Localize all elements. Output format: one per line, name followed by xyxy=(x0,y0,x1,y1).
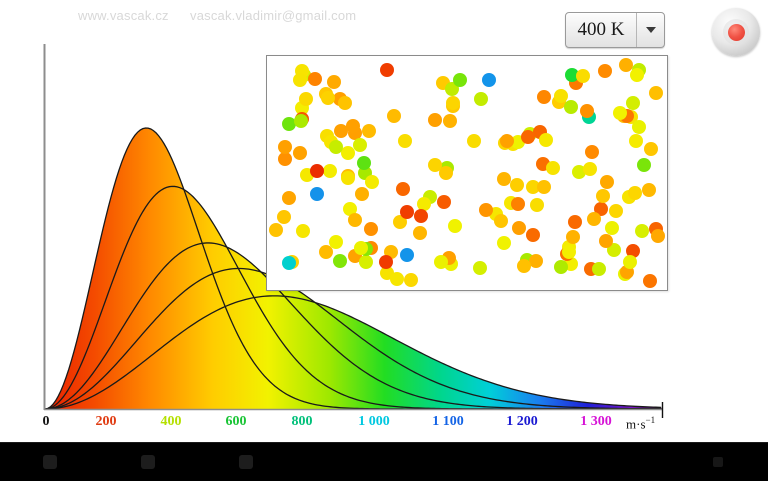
simulation-app: 02004006008001 0001 1001 2001 300 m·s−1 … xyxy=(0,0,768,442)
gas-particle xyxy=(362,124,376,138)
x-tick-1300: 1 300 xyxy=(580,414,612,430)
gas-particle xyxy=(623,255,637,269)
gas-particle xyxy=(649,86,663,100)
gas-particle xyxy=(428,113,442,127)
x-axis-unit-label: m·s−1 xyxy=(626,415,655,432)
gas-particle xyxy=(539,133,553,147)
x-tick-800: 800 xyxy=(292,414,313,430)
gas-particle xyxy=(398,134,412,148)
gas-particle xyxy=(439,166,453,180)
gas-particle xyxy=(626,96,640,110)
gas-particle xyxy=(537,90,551,104)
gas-particle xyxy=(353,138,367,152)
gas-particle xyxy=(414,209,428,223)
temperature-select[interactable]: 400 K xyxy=(565,12,665,48)
gas-particle xyxy=(637,158,651,172)
gas-particle xyxy=(323,164,337,178)
gas-particle xyxy=(497,172,511,186)
gas-particle xyxy=(446,96,460,110)
gas-particle-box[interactable] xyxy=(266,55,668,291)
x-tick-200: 200 xyxy=(96,414,117,430)
x-tick-1100: 1 100 xyxy=(432,414,464,430)
gas-particle xyxy=(364,222,378,236)
gas-particle xyxy=(566,230,580,244)
gas-particle xyxy=(643,274,657,288)
temperature-select-value: 400 K xyxy=(566,19,636,41)
gas-particle xyxy=(293,73,307,87)
gas-particle xyxy=(600,175,614,189)
gas-particle xyxy=(598,64,612,78)
gas-particle xyxy=(467,134,481,148)
gas-particle xyxy=(428,158,442,172)
gas-particle xyxy=(387,109,401,123)
gas-particle xyxy=(651,229,665,243)
gas-particle xyxy=(359,255,373,269)
gas-particle xyxy=(587,212,601,226)
gas-particle xyxy=(629,134,643,148)
gas-particle xyxy=(380,63,394,77)
x-tick-400: 400 xyxy=(161,414,182,430)
gas-particle xyxy=(497,236,511,250)
gas-particle xyxy=(546,161,560,175)
back-button[interactable] xyxy=(43,455,57,469)
home-button[interactable] xyxy=(141,455,155,469)
gas-particle xyxy=(365,175,379,189)
chevron-down-glyph xyxy=(646,27,656,33)
gas-particle xyxy=(596,189,610,203)
gas-particle xyxy=(338,96,352,110)
gas-particle xyxy=(453,73,467,87)
gas-particle xyxy=(443,114,457,128)
watermark-website: www.vascak.cz xyxy=(78,8,169,23)
gas-particle xyxy=(310,187,324,201)
gas-particle xyxy=(341,171,355,185)
gas-particle xyxy=(400,205,414,219)
chevron-down-icon[interactable] xyxy=(636,13,664,47)
gas-particle xyxy=(390,272,404,286)
gas-particle xyxy=(473,261,487,275)
gas-particle xyxy=(609,204,623,218)
gas-particle xyxy=(568,215,582,229)
gas-particle xyxy=(628,186,642,200)
gas-particle xyxy=(517,259,531,273)
gas-particle xyxy=(293,146,307,160)
menu-button[interactable] xyxy=(713,457,723,467)
gas-particle xyxy=(355,187,369,201)
x-tick-0: 0 xyxy=(43,414,50,430)
gas-particle xyxy=(413,226,427,240)
android-nav-bar xyxy=(0,442,768,481)
gas-particle xyxy=(437,195,451,209)
gas-particle xyxy=(396,182,410,196)
gas-particle xyxy=(296,224,310,238)
gas-particle xyxy=(605,221,619,235)
gas-particle xyxy=(357,156,371,170)
gas-particle xyxy=(310,164,324,178)
x-tick-1000: 1 000 xyxy=(358,414,390,430)
gas-particle xyxy=(474,92,488,106)
gas-particle xyxy=(494,214,508,228)
gas-particle xyxy=(348,213,362,227)
gas-particle xyxy=(448,219,462,233)
gas-particle xyxy=(576,69,590,83)
recents-button[interactable] xyxy=(239,455,253,469)
gas-particle xyxy=(308,72,322,86)
watermark-email: vascak.vladimir@gmail.com xyxy=(190,8,356,23)
gas-particle xyxy=(400,248,414,262)
gas-particle xyxy=(278,140,292,154)
gas-particle xyxy=(277,210,291,224)
gas-particle xyxy=(635,224,649,238)
gas-particle xyxy=(630,68,644,82)
gas-particle xyxy=(510,178,524,192)
gas-particle xyxy=(511,197,525,211)
x-tick-1200: 1 200 xyxy=(506,414,538,430)
gas-particle xyxy=(294,114,308,128)
record-icon[interactable] xyxy=(712,8,760,56)
gas-particle xyxy=(632,120,646,134)
gas-particle xyxy=(521,130,535,144)
gas-particle xyxy=(554,89,568,103)
gas-particle xyxy=(512,221,526,235)
gas-particle xyxy=(644,142,658,156)
gas-particle xyxy=(346,119,360,133)
gas-particle xyxy=(564,100,578,114)
gas-particle xyxy=(583,162,597,176)
gas-particle xyxy=(379,255,393,269)
gas-particle xyxy=(537,180,551,194)
gas-particle xyxy=(269,223,283,237)
gas-particle xyxy=(554,260,568,274)
gas-particle xyxy=(329,235,343,249)
gas-particle xyxy=(278,152,292,166)
gas-particle xyxy=(282,191,296,205)
gas-particle xyxy=(526,228,540,242)
gas-particle xyxy=(562,245,576,259)
gas-particle xyxy=(530,198,544,212)
gas-particle xyxy=(482,73,496,87)
gas-particle xyxy=(642,183,656,197)
gas-particle xyxy=(327,75,341,89)
gas-particle xyxy=(299,92,313,106)
gas-particle xyxy=(333,254,347,268)
x-tick-600: 600 xyxy=(226,414,247,430)
record-icon-dot xyxy=(728,24,745,41)
record-icon-ring xyxy=(723,19,749,45)
gas-particle xyxy=(404,273,418,287)
gas-particle xyxy=(592,262,606,276)
gas-particle xyxy=(585,145,599,159)
